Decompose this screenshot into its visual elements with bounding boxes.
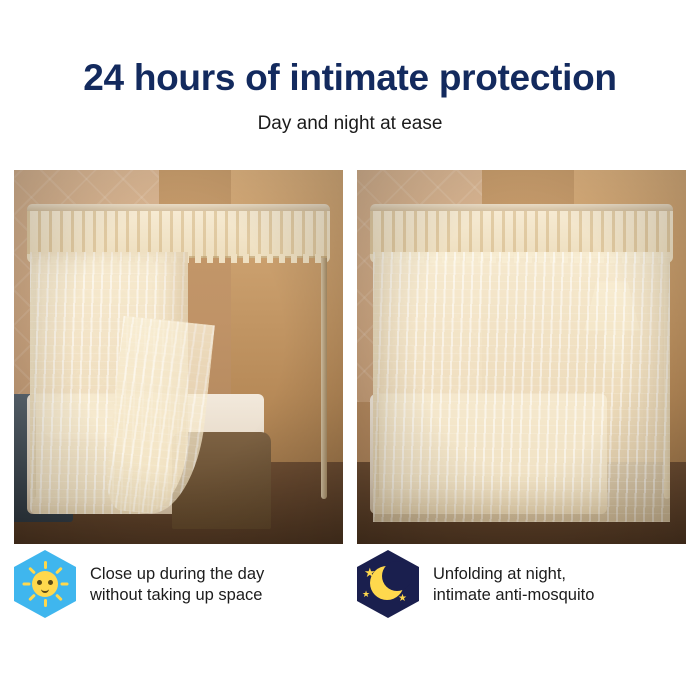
feature-night: ★ ★ ★ Unfolding at night, intimate anti-… [357,548,686,638]
feature-row: Close up during the day without taking u… [14,548,686,638]
star-icon: ★ [362,590,370,599]
bedroom-scene-night [357,170,686,544]
product-infographic: 24 hours of intimate protection Day and … [0,0,700,700]
moon-badge: ★ ★ ★ [357,550,419,618]
bedroom-scene-day [14,170,343,544]
page-subtitle: Day and night at ease [0,113,700,135]
sun-rays [22,561,68,607]
photo-night [357,170,686,544]
feature-day-text: Close up during the day without taking u… [90,548,264,606]
lace-valance [370,211,673,258]
feature-day-line1: Close up during the day [90,564,264,585]
photo-row [14,170,686,544]
page-title: 24 hours of intimate protection [0,58,700,99]
mosquito-net-unfolded [373,252,669,521]
moon-icon: ★ ★ ★ [368,564,408,604]
feature-night-line2: intimate anti-mosquito [433,585,594,606]
feature-day: Close up during the day without taking u… [14,548,343,638]
photo-day [14,170,343,544]
star-icon: ★ [398,594,407,604]
feature-night-text: Unfolding at night, intimate anti-mosqui… [433,548,594,606]
sun-badge [14,550,76,618]
star-icon: ★ [364,566,376,579]
lace-valance [27,211,330,258]
moon-crescent-cut [382,561,412,591]
sun-icon [32,571,58,597]
feature-day-line2: without taking up space [90,585,264,606]
feature-night-line1: Unfolding at night, [433,564,594,585]
